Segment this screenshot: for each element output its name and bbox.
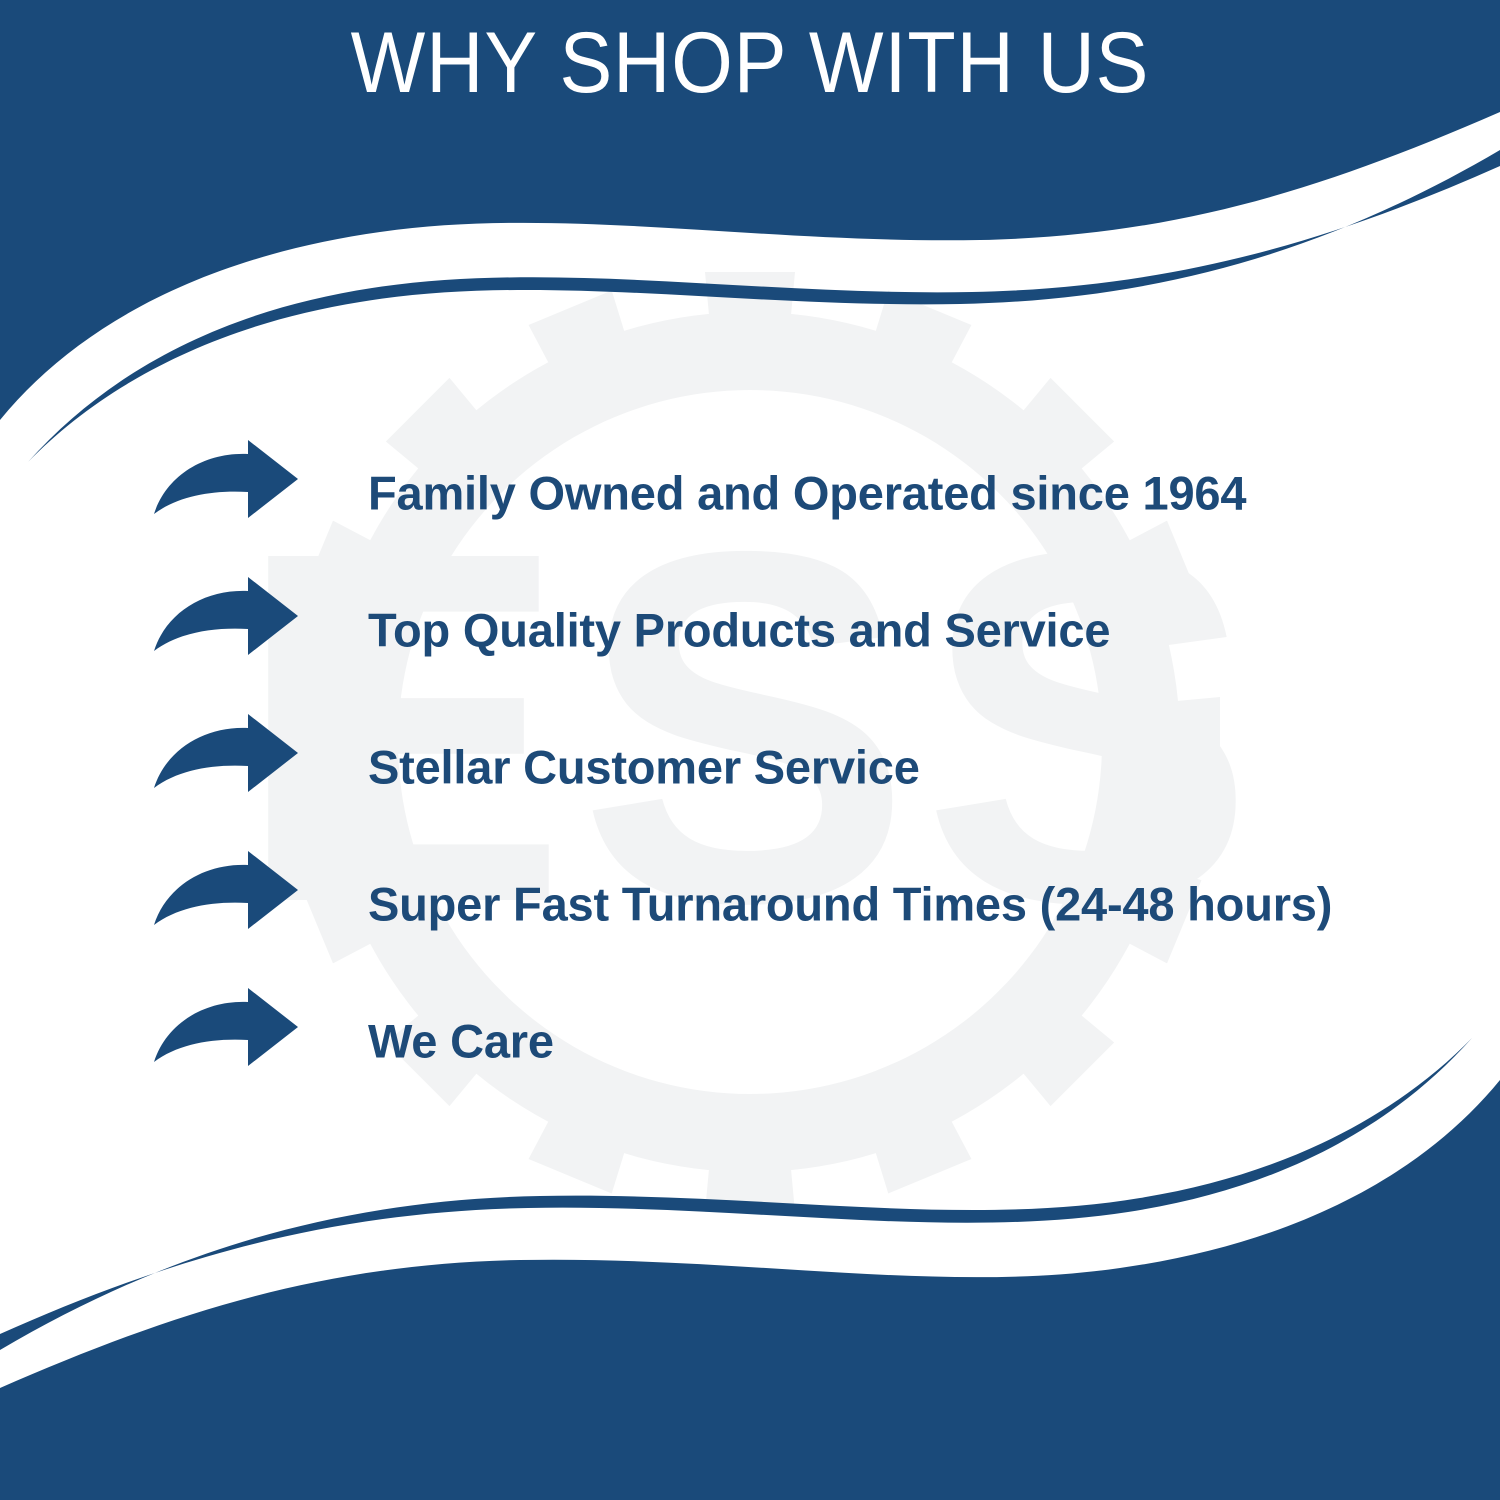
benefit-label: Family Owned and Operated since 1964 — [368, 465, 1246, 520]
benefit-label: Super Fast Turnaround Times (24-48 hours… — [368, 876, 1332, 931]
list-item: Stellar Customer Service — [0, 698, 1500, 835]
list-item: Super Fast Turnaround Times (24-48 hours… — [0, 835, 1500, 972]
benefit-label: Top Quality Products and Service — [368, 602, 1110, 657]
list-item: We Care — [0, 972, 1500, 1109]
benefits-list: Family Owned and Operated since 1964 Top… — [0, 424, 1500, 1109]
benefit-label: We Care — [368, 1013, 554, 1068]
list-item: Top Quality Products and Service — [0, 561, 1500, 698]
curved-arrow-right-icon — [152, 986, 300, 1068]
curved-arrow-right-icon — [152, 849, 300, 931]
footer-band — [0, 1080, 1500, 1500]
list-item: Family Owned and Operated since 1964 — [0, 424, 1500, 561]
top-accent-ribbon — [28, 150, 1500, 462]
page-title: WHY SHOP WITH US — [60, 18, 1440, 108]
curved-arrow-right-icon — [152, 438, 300, 520]
curved-arrow-right-icon — [152, 575, 300, 657]
curved-arrow-right-icon — [152, 712, 300, 794]
promo-banner: ESS WHY SHOP WITH US Fam — [0, 0, 1500, 1500]
benefit-label: Stellar Customer Service — [368, 739, 920, 794]
